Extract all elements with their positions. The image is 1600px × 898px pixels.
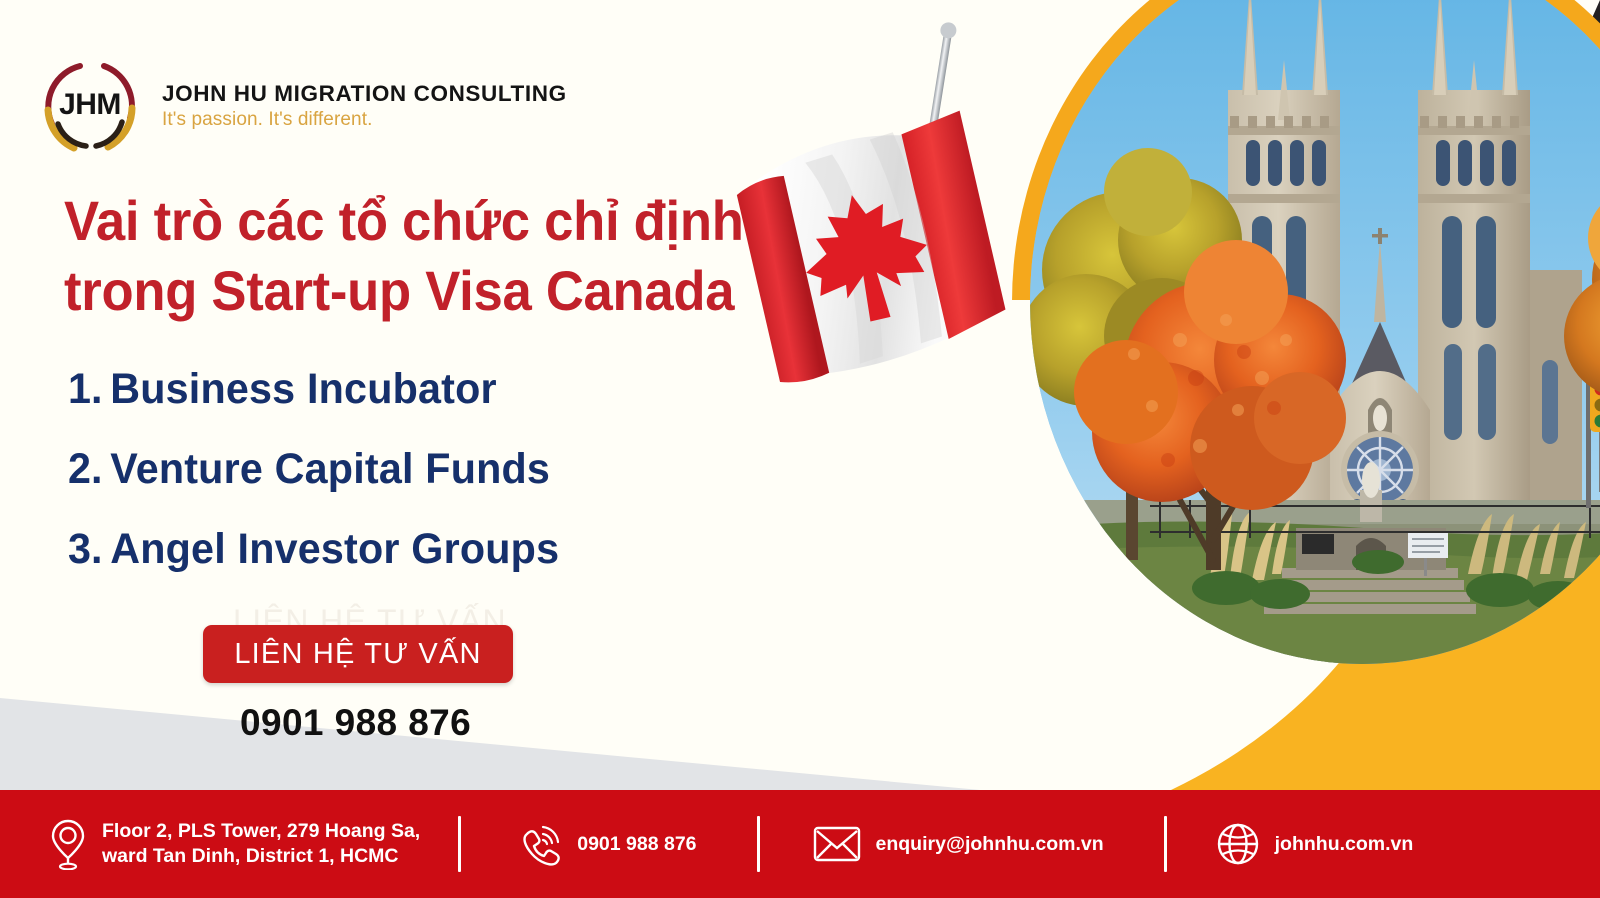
company-name: JOHN HU MIGRATION CONSULTING: [162, 81, 567, 107]
list-item: 2. Venture Capital Funds: [68, 445, 559, 494]
list-item-label: Business Incubator: [110, 365, 497, 414]
list-item-number: 2.: [68, 445, 110, 494]
footer-address-item: Floor 2, PLS Tower, 279 Hoang Sa, ward T…: [48, 818, 420, 870]
footer-email-text: enquiry@johnhu.com.vn: [876, 832, 1104, 857]
footer-email-item[interactable]: enquiry@johnhu.com.vn: [812, 824, 1104, 864]
list-item: 1. Business Incubator: [68, 365, 559, 414]
phone-ringing-icon: [517, 821, 563, 867]
footer-address-text: Floor 2, PLS Tower, 279 Hoang Sa, ward T…: [102, 819, 420, 869]
gray-wedge-decor: [0, 672, 980, 790]
contact-consult-button[interactable]: LIÊN HỆ TƯ VẤN: [203, 625, 513, 683]
list-item-number: 3.: [68, 525, 110, 574]
list-item-label: Angel Investor Groups: [110, 525, 559, 574]
designated-organizations-list: 1. Business Incubator 2. Venture Capital…: [68, 365, 559, 605]
list-item-number: 1.: [68, 365, 110, 414]
brand-logo[interactable]: JHM JOHN HU MIGRATION CONSULTING It's pa…: [34, 52, 567, 156]
footer-phone-item[interactable]: 0901 988 876: [517, 821, 696, 867]
canada-flag-icon: [694, 18, 1044, 398]
footer-website-text: johnhu.com.vn: [1275, 832, 1414, 857]
banner-canvas: JHM JOHN HU MIGRATION CONSULTING It's pa…: [0, 0, 1600, 898]
location-pin-icon: [48, 818, 88, 870]
guelph-cathedral-autumn-photo: [1030, 0, 1600, 664]
headline-line-2: trong Start-up Visa Canada: [64, 256, 666, 326]
contact-footer-bar: Floor 2, PLS Tower, 279 Hoang Sa, ward T…: [0, 790, 1600, 898]
footer-address-line-1: Floor 2, PLS Tower, 279 Hoang Sa,: [102, 819, 420, 844]
cta-phone-number[interactable]: 0901 988 876: [240, 702, 471, 744]
page-title: Vai trò các tổ chức chỉ định trong Start…: [64, 186, 666, 326]
list-item: 3. Angel Investor Groups: [68, 525, 559, 574]
svg-text:JHM: JHM: [59, 88, 121, 121]
footer-divider: [757, 816, 760, 872]
footer-address-line-2: ward Tan Dinh, District 1, HCMC: [102, 844, 420, 869]
footer-divider: [1164, 816, 1167, 872]
company-tagline: It's passion. It's different.: [162, 109, 567, 131]
footer-website-item[interactable]: johnhu.com.vn: [1215, 821, 1414, 867]
envelope-icon: [812, 824, 862, 864]
cta-group: LIÊN HỆ TƯ VẤN LIÊN HỆ TƯ VẤN: [203, 625, 513, 683]
footer-divider: [458, 816, 461, 872]
list-item-label: Venture Capital Funds: [110, 445, 550, 494]
footer-phone-text: 0901 988 876: [577, 832, 696, 857]
jhm-logo-mark-icon: JHM: [34, 52, 146, 156]
globe-icon: [1215, 821, 1261, 867]
headline-line-1: Vai trò các tổ chức chỉ định: [64, 186, 666, 256]
